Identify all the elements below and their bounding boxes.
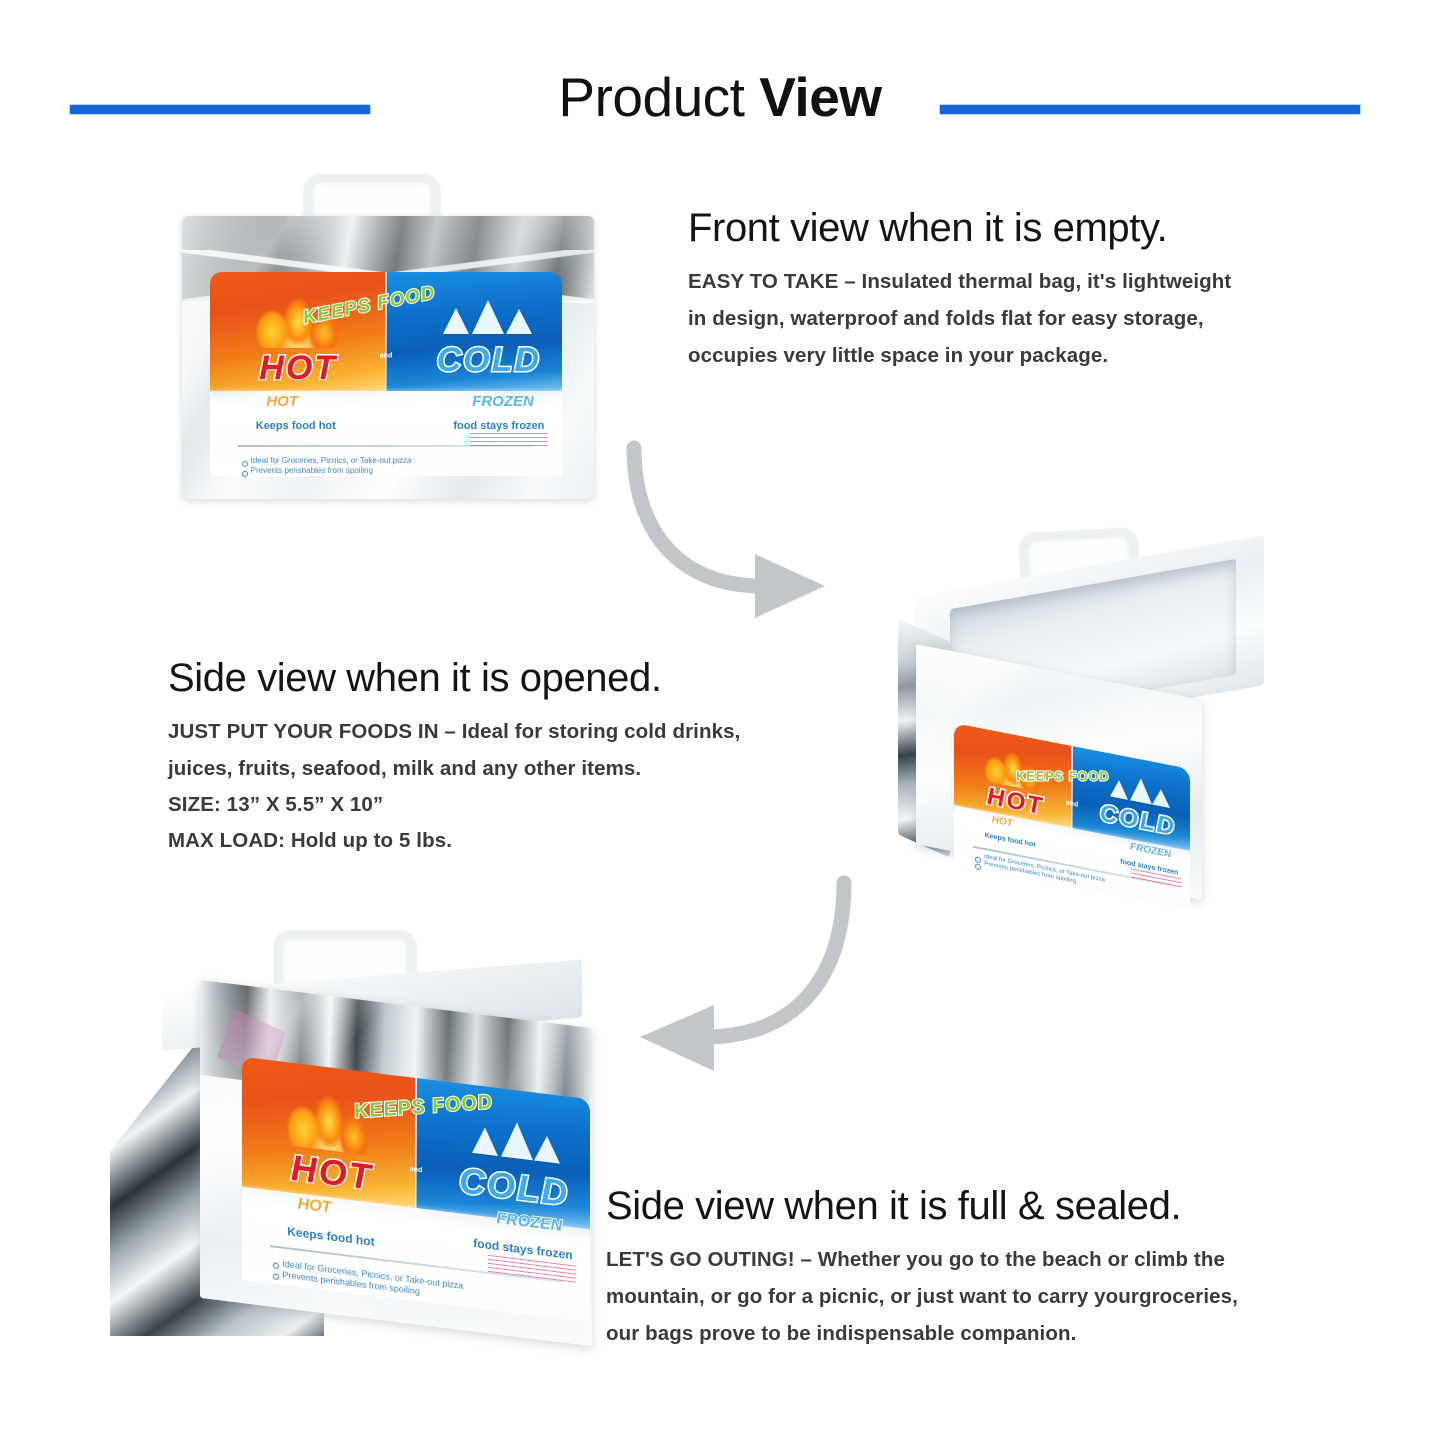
page-title-bold: View	[759, 66, 881, 128]
product-image-side-opened: and KEEPS FOOD HOT COLD HOT FROZEN Keeps…	[892, 522, 1292, 914]
section-heading: Front view when it is empty.	[688, 205, 1308, 251]
label-keeps-food-text: KEEPS FOOD	[1015, 768, 1111, 783]
label-caption-hot: Keeps food hot	[256, 420, 336, 432]
title-rule-left	[70, 105, 370, 114]
label-warning-block	[470, 433, 548, 449]
section-body-line: EASY TO TAKE – Insulated thermal bag, it…	[688, 263, 1308, 300]
section-body-line: juices, fruits, seafood, milk and any ot…	[168, 750, 818, 787]
label-sub-frozen-text: FROZEN	[472, 393, 534, 410]
page-title: Product View	[0, 62, 1440, 132]
product-view-infographic: Product View	[0, 0, 1440, 1438]
section-side-view-full-sealed: Side view when it is full & sealed. LET'…	[606, 1183, 1346, 1352]
bag-label: and KEEPS FOOD HOT COLD HOT FROZEN Keeps…	[242, 1057, 590, 1310]
section-max-load-line: MAX LOAD: Hold up to 5 lbs.	[168, 823, 818, 859]
section-body-line: JUST PUT YOUR FOODS IN – Ideal for stori…	[168, 713, 818, 750]
bag-label: and KEEPS FOOD HOT COLD HOT FROZEN Keeps…	[210, 272, 562, 464]
section-body-line: LET'S GO OUTING! – Whether you go to the…	[606, 1241, 1346, 1278]
label-and-text: and	[410, 1166, 422, 1175]
label-and-text: and	[380, 353, 392, 360]
title-rule-right	[940, 105, 1360, 114]
label-bullet-item: Ideal for Groceries, Picnics, or Take-ou…	[242, 456, 412, 466]
label-divider	[1071, 746, 1073, 844]
product-image-front-empty: and KEEPS FOOD HOT COLD HOT FROZEN Keeps…	[182, 174, 594, 504]
section-body-line: mountain, or go for a picnic, or just wa…	[606, 1278, 1346, 1315]
section-body-line: occupies very little space in your packa…	[688, 337, 1308, 374]
label-hot-text: HOT	[259, 349, 337, 388]
product-image-side-full-sealed: and KEEPS FOOD HOT COLD HOT FROZEN Keeps…	[104, 928, 604, 1366]
section-heading: Side view when it is full & sealed.	[606, 1183, 1346, 1229]
section-size-line: SIZE: 13” X 5.5” X 10”	[168, 787, 818, 823]
section-body-line: in design, waterproof and folds flat for…	[688, 300, 1308, 337]
page-title-light: Product	[558, 66, 759, 128]
label-bullets: Ideal for Groceries, Picnics, or Take-ou…	[242, 456, 412, 476]
label-caption-frozen: food stays frozen	[453, 420, 544, 432]
mountain-peaks-icon	[439, 286, 538, 334]
section-body-line: our bags prove to be indispensable compa…	[606, 1315, 1346, 1352]
arrow-front-to-open-icon	[600, 420, 865, 620]
label-cold-text: COLD	[437, 341, 541, 380]
section-front-view-empty: Front view when it is empty. EASY TO TAK…	[688, 205, 1308, 374]
section-heading: Side view when it is opened.	[168, 655, 818, 701]
section-side-view-opened: Side view when it is opened. JUST PUT YO…	[168, 655, 818, 859]
label-bullet-item: Prevents perishables from spoiling	[242, 466, 412, 476]
arrow-open-to-sealed-icon	[618, 865, 908, 1095]
label-sub-hot-text: HOT	[266, 393, 298, 410]
page-header: Product View	[0, 62, 1440, 132]
